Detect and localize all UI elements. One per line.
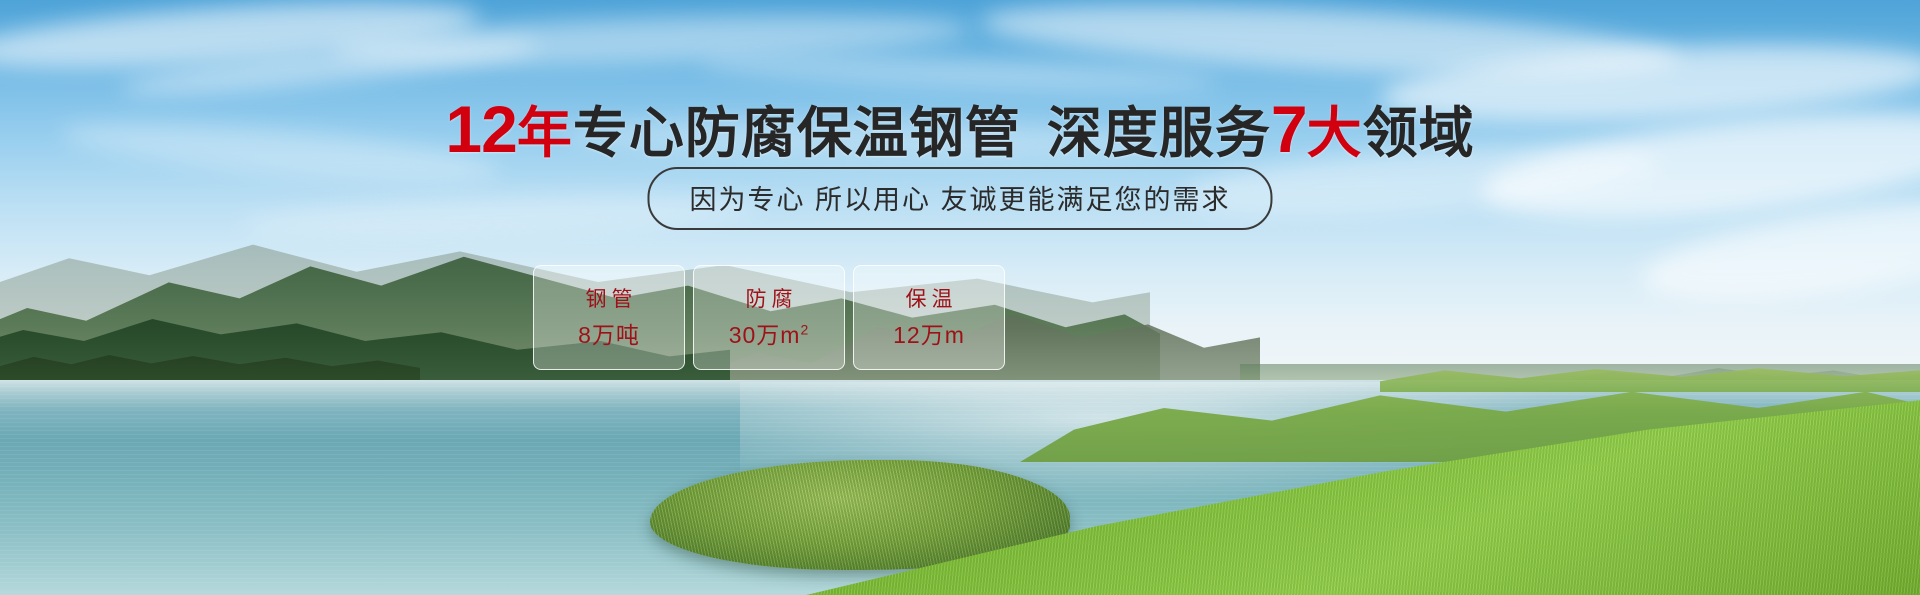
stat-card-value-text: 12万m: [893, 322, 965, 348]
stat-card-label: 保温: [901, 289, 958, 310]
headline-domains-number: 7: [1271, 92, 1307, 166]
banner-headline: 12年专心防腐保温钢管深度服务7大领域: [0, 88, 1920, 168]
headline-domains-suffix: 领域: [1363, 102, 1475, 164]
stat-card-anticorrosion: 防腐 30万m2: [693, 265, 845, 370]
headline-main-text: 专心防腐保温钢管: [573, 102, 1021, 164]
stat-card-value: 12万m: [893, 324, 965, 347]
stat-card-label: 防腐: [741, 289, 798, 310]
stat-card-group: 钢管 8万吨 防腐 30万m2 保温 12万m: [533, 265, 1005, 370]
headline-years-unit: 年: [517, 102, 573, 164]
headline-years-number: 12: [445, 92, 516, 166]
stat-card-insulation: 保温 12万m: [853, 265, 1005, 370]
headline-domains-unit: 大: [1307, 102, 1363, 164]
banner-subtitle-pill: 因为专心 所以用心 友诚更能满足您的需求: [647, 167, 1272, 230]
stat-card-value-text: 30万m: [729, 322, 801, 348]
stat-card-value-text: 8万吨: [578, 322, 640, 348]
stat-card-value-superscript: 2: [800, 321, 809, 337]
stat-card-value: 8万吨: [578, 324, 640, 347]
headline-service-text: 深度服务: [1047, 102, 1271, 164]
stat-card-label: 钢管: [581, 289, 638, 310]
promo-banner: 12年专心防腐保温钢管深度服务7大领域 因为专心 所以用心 友诚更能满足您的需求…: [0, 0, 1920, 595]
stat-card-steel-pipe: 钢管 8万吨: [533, 265, 685, 370]
stat-card-value: 30万m2: [729, 324, 810, 347]
